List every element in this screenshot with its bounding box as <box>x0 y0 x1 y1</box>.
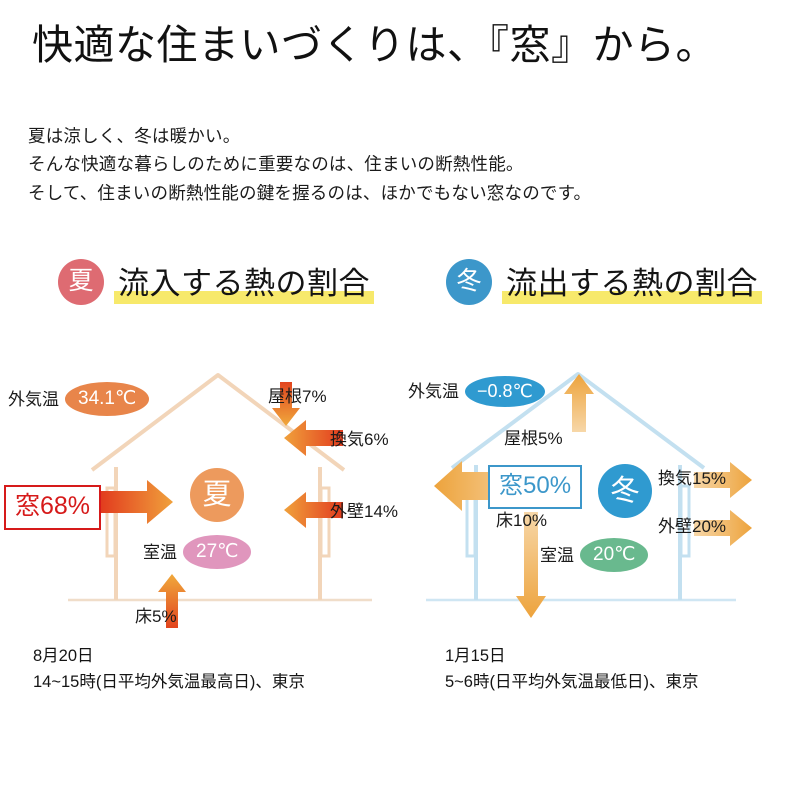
inside-temp-value-summer: 27℃ <box>183 535 251 569</box>
diagram-winter: 外気温 −0.8℃ 屋根5% 窓50% 冬 換気15% 床10% 外壁20% 室… <box>400 360 800 640</box>
section-heading-winter-wrap: 流出する熱の割合 <box>502 258 762 305</box>
inside-temp-value-winter: 20℃ <box>580 538 648 572</box>
section-heading-summer: 流入する熱の割合 <box>118 258 370 303</box>
house-season-mark-winter: 冬 <box>598 464 652 518</box>
outside-temp-value-summer: 34.1℃ <box>65 382 149 416</box>
season-badge-summer: 夏 <box>58 259 104 305</box>
lead-line-3: そして、住まいの断熱性能の鍵を握るのは、ほかでもない窓なのです。 <box>28 179 591 207</box>
floor-label-summer: 床5% <box>135 608 177 625</box>
right-window-summer <box>321 488 329 556</box>
inside-temp-label-summer: 室温 <box>143 544 177 561</box>
section-header-winter: 冬 流出する熱の割合 <box>446 258 762 305</box>
window-value-summer: 窓68% <box>4 485 101 530</box>
caption-summer-line1: 8月20日 <box>33 644 305 670</box>
outside-temp-value-winter: −0.8℃ <box>465 376 545 407</box>
window-value-winter: 窓50% <box>488 465 582 509</box>
caption-summer: 8月20日 14~15時(日平均外気温最高日)、東京 <box>33 644 305 695</box>
roof-label-winter: 屋根5% <box>504 430 563 447</box>
wall-label-summer: 外壁14% <box>330 503 398 520</box>
caption-winter-line1: 1月15日 <box>445 644 698 670</box>
vent-label-summer: 換気6% <box>330 431 389 448</box>
page-title: 快適な住まいづくりは、『窓』から。 <box>32 20 717 70</box>
diagram-summer: 外気温 34.1℃ 屋根7% 窓68% 夏 室温 27℃ 換気6% 外壁14% … <box>0 360 400 640</box>
roof-label-summer: 屋根7% <box>268 388 327 405</box>
section-heading-winter: 流出する熱の割合 <box>506 258 758 303</box>
lead-line-1: 夏は涼しく、冬は暖かい。 <box>28 122 591 150</box>
section-header-summer: 夏 流入する熱の割合 <box>58 258 374 305</box>
caption-winter: 1月15日 5~6時(日平均外気温最低日)、東京 <box>445 644 698 695</box>
outside-temp-summer: 外気温 34.1℃ <box>8 382 149 416</box>
lead-paragraph: 夏は涼しく、冬は暖かい。 そんな快適な暮らしのために重要なのは、住まいの断熱性能… <box>28 122 591 207</box>
lead-line-2: そんな快適な暮らしのために重要なのは、住まいの断熱性能。 <box>28 150 591 178</box>
vent-label-winter: 換気15% <box>658 470 726 487</box>
house-season-mark-summer: 夏 <box>190 468 244 522</box>
outside-temp-label-winter: 外気温 <box>408 383 459 400</box>
infographic-page: 快適な住まいづくりは、『窓』から。 夏は涼しく、冬は暖かい。 そんな快適な暮らし… <box>0 0 800 800</box>
floor-label-winter: 床10% <box>496 512 547 529</box>
section-heading-summer-wrap: 流入する熱の割合 <box>114 258 374 305</box>
inside-temp-label-winter: 室温 <box>540 547 574 564</box>
wall-label-winter: 外壁20% <box>658 518 726 535</box>
caption-winter-line2: 5~6時(日平均外気温最低日)、東京 <box>445 670 698 696</box>
season-badge-winter: 冬 <box>446 259 492 305</box>
caption-summer-line2: 14~15時(日平均外気温最高日)、東京 <box>33 670 305 696</box>
outside-temp-label-summer: 外気温 <box>8 391 59 408</box>
inside-temp-summer: 室温 27℃ <box>143 535 251 569</box>
outside-temp-winter: 外気温 −0.8℃ <box>408 376 545 407</box>
inside-temp-winter: 室温 20℃ <box>540 538 648 572</box>
